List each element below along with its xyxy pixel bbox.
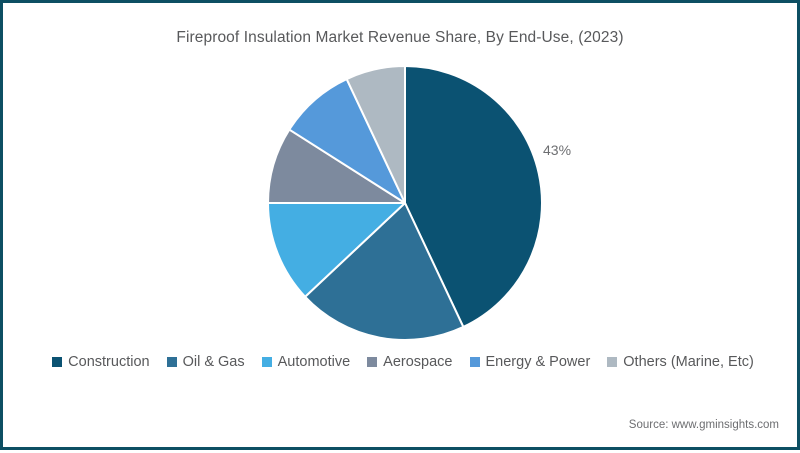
legend-item-label: Construction — [68, 355, 149, 370]
legend-item: Aerospace — [367, 355, 452, 370]
chart-frame: Fireproof Insulation Market Revenue Shar… — [0, 0, 800, 450]
pie-chart-area: 43% — [3, 3, 800, 453]
legend-item: Energy & Power — [470, 355, 591, 370]
legend-item: Oil & Gas — [167, 355, 245, 370]
legend-item-label: Others (Marine, Etc) — [623, 355, 754, 370]
legend-swatch-icon — [262, 357, 272, 367]
legend-item-label: Oil & Gas — [183, 355, 245, 370]
pie-slices — [268, 66, 542, 340]
legend-item-label: Automotive — [278, 355, 351, 370]
legend-item-label: Energy & Power — [486, 355, 591, 370]
legend-item: Others (Marine, Etc) — [607, 355, 754, 370]
legend-swatch-icon — [607, 357, 617, 367]
legend-item: Construction — [52, 355, 149, 370]
legend-swatch-icon — [52, 357, 62, 367]
legend-swatch-icon — [167, 357, 177, 367]
source-note: Source: www.gminsights.com — [629, 419, 779, 431]
legend-swatch-icon — [367, 357, 377, 367]
legend-swatch-icon — [470, 357, 480, 367]
legend-item: Automotive — [262, 355, 351, 370]
legend-item-label: Aerospace — [383, 355, 452, 370]
pie-slice-value-label-construction: 43% — [543, 142, 571, 158]
pie-chart-svg — [265, 63, 545, 343]
chart-legend: ConstructionOil & GasAutomotiveAerospace… — [3, 355, 800, 370]
